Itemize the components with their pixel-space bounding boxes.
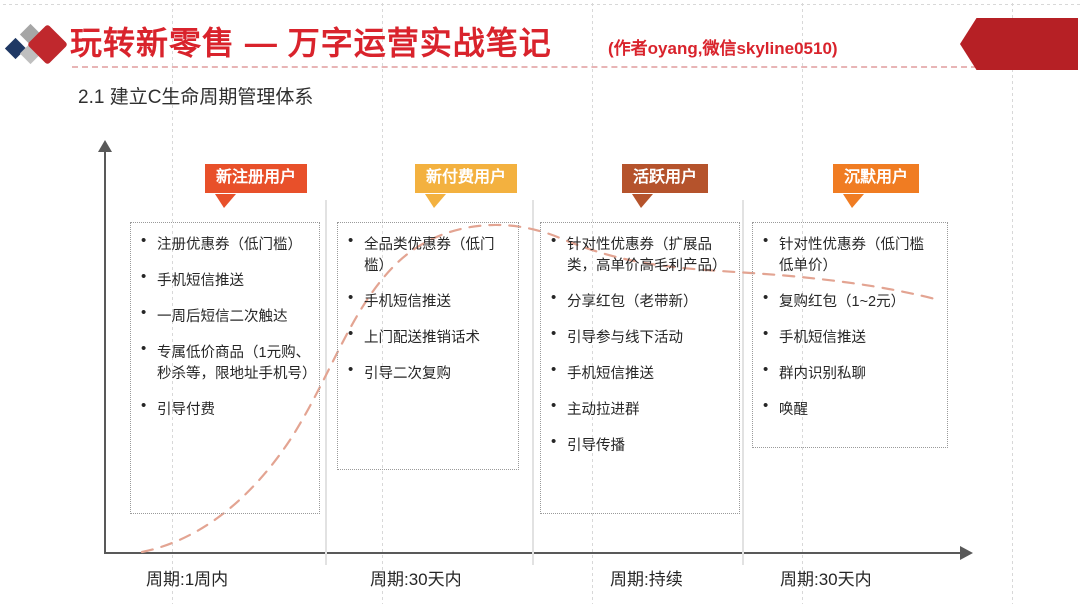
stage-badge-tail-2 bbox=[425, 194, 446, 208]
stage-badge-tail-3 bbox=[632, 194, 653, 208]
page-title: 玩转新零售 — 万字运营实战笔记 bbox=[70, 18, 552, 64]
list-item-text: 分享红包（老带新） bbox=[567, 292, 731, 313]
bullet-icon bbox=[348, 328, 364, 334]
bullet-icon bbox=[551, 436, 567, 442]
bullet-icon bbox=[551, 292, 567, 298]
list-item: 唤醒 bbox=[763, 400, 939, 421]
bullet-icon bbox=[551, 400, 567, 406]
list-item-text: 主动拉进群 bbox=[567, 400, 731, 421]
list-item-text: 针对性优惠券（低门槛 低单价） bbox=[779, 235, 939, 277]
list-item-text: 上门配送推销话术 bbox=[364, 328, 510, 349]
list-item: 引导传播 bbox=[551, 436, 731, 457]
list-item: 分享红包（老带新） bbox=[551, 292, 731, 313]
list-item: 一周后短信二次触达 bbox=[141, 307, 311, 328]
bullet-icon bbox=[763, 400, 779, 406]
bullet-icon bbox=[348, 292, 364, 298]
slide-canvas: 玩转新零售 — 万字运营实战笔记 (作者oyang,微信skyline0510)… bbox=[0, 0, 1080, 604]
list-item: 注册优惠券（低门槛） bbox=[141, 235, 311, 256]
list-item: 引导付费 bbox=[141, 400, 311, 421]
stage-separator-1 bbox=[325, 200, 327, 565]
bullet-icon bbox=[141, 235, 157, 241]
list-item: 全品类优惠券（低门槛） bbox=[348, 235, 510, 277]
list-item-text: 手机短信推送 bbox=[779, 328, 939, 349]
list-item-text: 注册优惠券（低门槛） bbox=[157, 235, 311, 256]
list-item-text: 全品类优惠券（低门槛） bbox=[364, 235, 510, 277]
bullet-icon bbox=[141, 343, 157, 349]
stage-badge-tail-4 bbox=[843, 194, 864, 208]
bullet-icon bbox=[141, 307, 157, 313]
y-axis-line bbox=[104, 148, 106, 553]
stage-separator-3 bbox=[742, 200, 744, 565]
stage-separator-2 bbox=[532, 200, 534, 565]
stage-period-3: 周期:持续 bbox=[610, 565, 683, 590]
stage-badge-3[interactable]: 活跃用户 bbox=[622, 164, 708, 193]
header-divider bbox=[72, 66, 977, 68]
list-item-text: 专属低价商品（1元购、秒杀等，限地址手机号） bbox=[157, 343, 311, 385]
bullet-icon bbox=[763, 328, 779, 334]
bullet-icon bbox=[141, 271, 157, 277]
list-item-text: 引导传播 bbox=[567, 436, 731, 457]
list-item-text: 引导付费 bbox=[157, 400, 311, 421]
bullet-icon bbox=[348, 235, 364, 241]
list-item-text: 复购红包（1~2元） bbox=[779, 292, 939, 313]
diamond-logo-icon bbox=[6, 24, 68, 64]
bullet-icon bbox=[551, 364, 567, 370]
list-item-text: 手机短信推送 bbox=[364, 292, 510, 313]
list-item: 引导参与线下活动 bbox=[551, 328, 731, 349]
stage-period-1: 周期:1周内 bbox=[146, 565, 228, 590]
page-subtitle: (作者oyang,微信skyline0510) bbox=[608, 34, 838, 59]
list-item-text: 唤醒 bbox=[779, 400, 939, 421]
list-item: 主动拉进群 bbox=[551, 400, 731, 421]
list-item: 新注册用户 针对性优惠券（扩展品类，高单价高毛利产品） bbox=[551, 235, 731, 277]
bullet-icon bbox=[763, 364, 779, 370]
bullet-icon bbox=[141, 400, 157, 406]
bullet-icon bbox=[551, 328, 567, 334]
list-item: 手机短信推送 bbox=[551, 364, 731, 385]
list-item: 上门配送推销话术 bbox=[348, 328, 510, 349]
stage-badge-tail-1 bbox=[215, 194, 236, 208]
list-item-text: 针对性优惠券（扩展品类，高单价高毛利产品） bbox=[567, 235, 731, 277]
list-item: 专属低价商品（1元购、秒杀等，限地址手机号） bbox=[141, 343, 311, 385]
list-item: 手机短信推送 bbox=[763, 328, 939, 349]
stage-period-2: 周期:30天内 bbox=[370, 565, 462, 590]
bullet-icon bbox=[763, 292, 779, 298]
list-item-text: 一周后短信二次触达 bbox=[157, 307, 311, 328]
x-axis-arrow-icon bbox=[960, 546, 973, 560]
stage-box-4: 针对性优惠券（低门槛 低单价） 复购红包（1~2元） 手机短信推送 群内识别私聊… bbox=[752, 222, 948, 448]
list-item: 群内识别私聊 bbox=[763, 364, 939, 385]
list-item: 针对性优惠券（低门槛 低单价） bbox=[763, 235, 939, 277]
bullet-icon bbox=[763, 235, 779, 241]
stage-box-3: 新注册用户 针对性优惠券（扩展品类，高单价高毛利产品） 分享红包（老带新） 引导… bbox=[540, 222, 740, 514]
list-item-text: 群内识别私聊 bbox=[779, 364, 939, 385]
stage-badge-4[interactable]: 沉默用户 bbox=[833, 164, 919, 193]
list-item-text: 手机短信推送 bbox=[567, 364, 731, 385]
list-item: 复购红包（1~2元） bbox=[763, 292, 939, 313]
stage-box-1: 注册优惠券（低门槛） 手机短信推送 一周后短信二次触达 专属低价商品（1元购、秒… bbox=[130, 222, 320, 514]
bullet-icon bbox=[551, 235, 567, 241]
list-item-text: 引导二次复购 bbox=[364, 364, 510, 385]
stage-box-2: 全品类优惠券（低门槛） 手机短信推送 上门配送推销话术 引导二次复购 bbox=[337, 222, 519, 470]
bullet-icon bbox=[348, 364, 364, 370]
stage-badge-1[interactable]: 新注册用户 bbox=[205, 164, 307, 193]
list-item: 手机短信推送 bbox=[348, 292, 510, 313]
slide-header: 玩转新零售 — 万字运营实战笔记 (作者oyang,微信skyline0510) bbox=[0, 0, 1080, 78]
stage-period-4: 周期:30天内 bbox=[780, 565, 872, 590]
stage-badge-2[interactable]: 新付费用户 bbox=[415, 164, 517, 193]
list-item: 引导二次复购 bbox=[348, 364, 510, 385]
red-chevron-banner bbox=[960, 18, 1078, 70]
list-item: 手机短信推送 bbox=[141, 271, 311, 292]
list-item-text: 引导参与线下活动 bbox=[567, 328, 731, 349]
list-item-text: 手机短信推送 bbox=[157, 271, 311, 292]
section-heading: 2.1 建立C生命周期管理体系 bbox=[78, 82, 313, 109]
